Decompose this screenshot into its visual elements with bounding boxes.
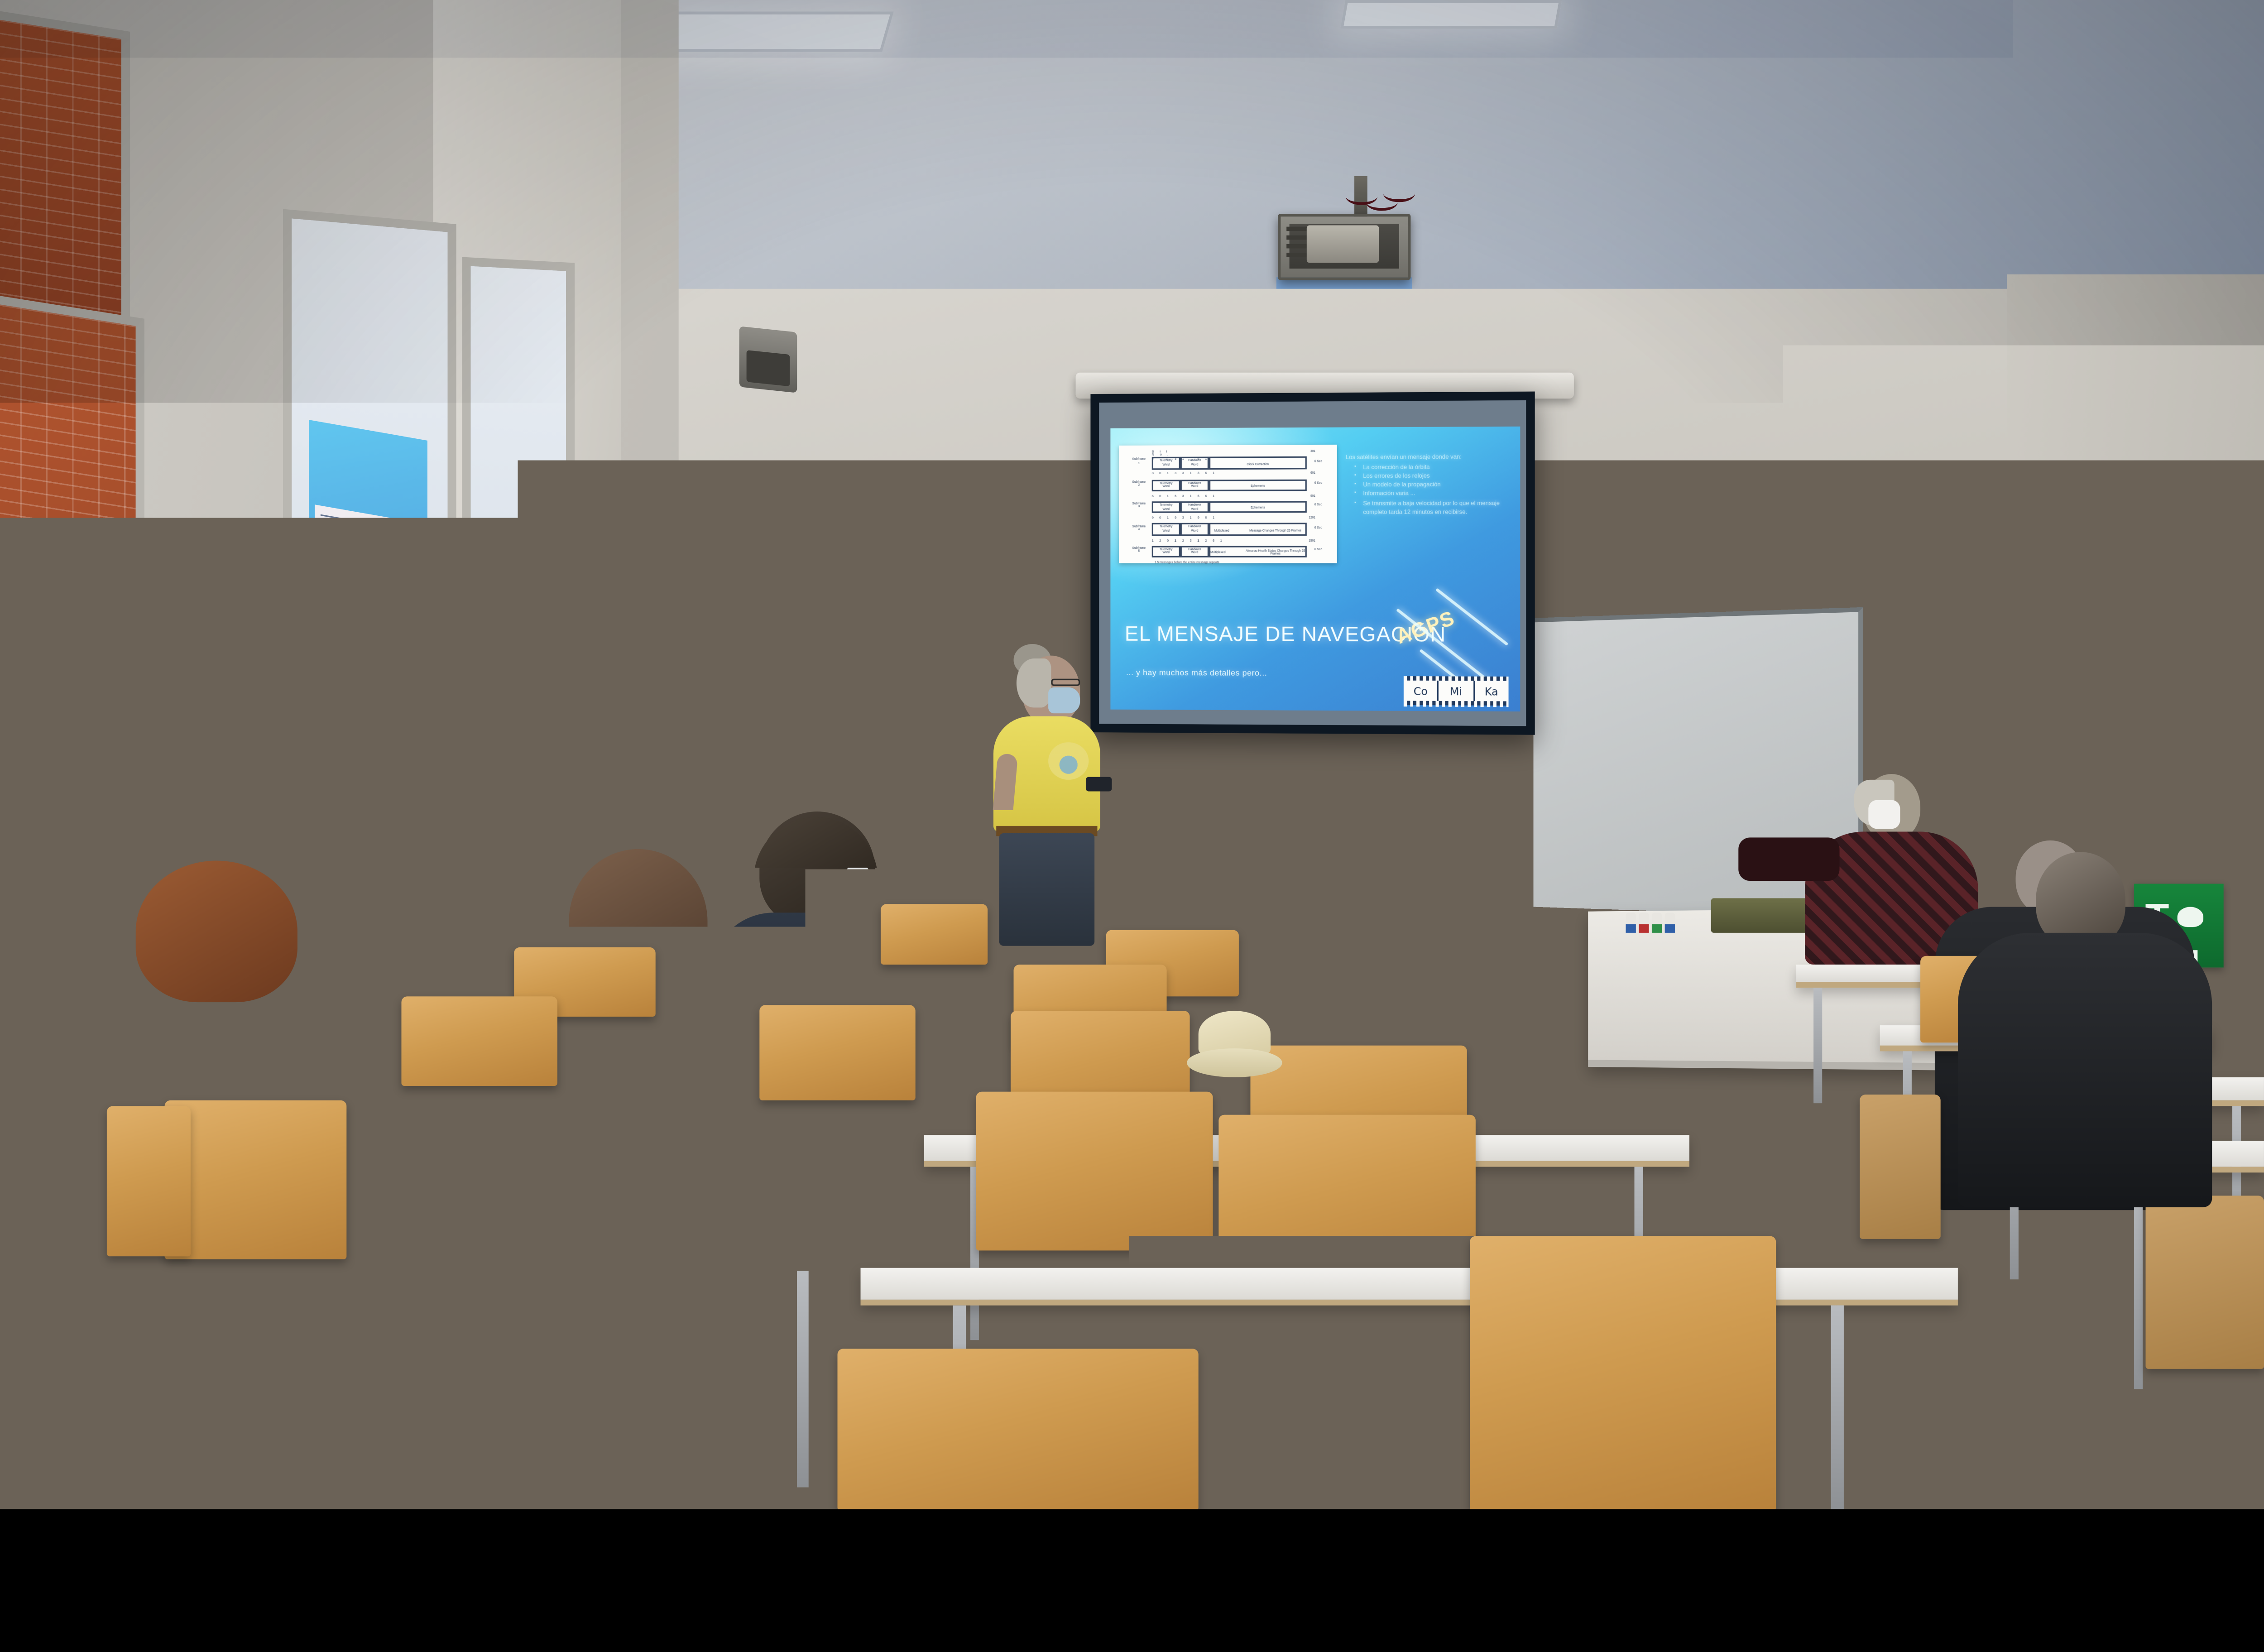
toy-figure [1665,912,1675,933]
window-centre-left: MENSAJE y muchos más [283,209,456,1004]
playmobil-figures [1626,904,1701,933]
chair[interactable] [2146,1196,2264,1369]
black-jacket-on-chair [552,1178,835,1337]
reflected-slide-title: MENSAJE [312,674,425,711]
smartphone[interactable] [1086,777,1112,792]
bullet-lead: Los satélites envían un mensaje donde va… [1346,453,1513,462]
bullet-list: La corrección de la órbita Los errores d… [1346,462,1513,517]
comika-film-logo: Co Mi Ka [1404,676,1509,706]
ceiling-light-panel [1340,0,1562,29]
grey-bag [162,1222,297,1453]
navigation-message-table: Bit No. = 13161 301 Subframe1 TelemetryW… [1119,445,1337,563]
window-lower-left [0,293,144,1127]
bullet-item: Los errores de los relojes [1354,471,1513,481]
face-mask [1048,687,1080,713]
projector-body [1307,225,1379,263]
classroom-photo: Bit No. = 13161 301 Subframe1 TelemetryW… [0,0,2264,1509]
ammo-box [1711,898,1815,933]
presentation-slide: Bit No. = 13161 301 Subframe1 TelemetryW… [1110,427,1520,711]
chair[interactable] [1860,1095,1941,1239]
ceiling-light-panel [651,12,894,52]
comika-frame-2: Mi [1439,681,1474,701]
projection-screen: Bit No. = 13161 301 Subframe1 TelemetryW… [1090,392,1535,735]
comika-frame-3: Ka [1474,681,1508,701]
slide-bullet-block: Los satélites envían un mensaje donde va… [1346,453,1513,517]
chair[interactable] [1470,1236,1776,1509]
ceiling-projector [1278,214,1410,280]
bottle [778,732,793,767]
paper-towel-dispenser [931,690,995,780]
exit-indicator-icon [2189,476,2255,508]
bullet-item: Información varia ... [1354,490,1513,499]
toy-figure [1639,912,1649,933]
projector-vent-slots [1286,227,1307,231]
chair[interactable] [976,1092,1213,1251]
glasses-icon [1051,679,1080,686]
table-caption: 1.5 messages before the entire message r… [1126,562,1330,565]
bullet-item: Se transmite a baja velocidad por lo que… [1354,499,1513,517]
bullet-item: Un modelo de la propagación [1354,480,1513,490]
window-right-of-pillar [462,257,575,941]
bullet-item: La corrección de la órbita [1354,462,1513,472]
wall-speaker [739,326,797,393]
tshirt-graphic [1048,742,1089,780]
reflected-slide-subtitle: y muchos más [315,718,422,744]
chair[interactable] [837,1349,1198,1509]
comika-frame-1: Co [1404,681,1439,701]
slide-reflection-in-glass: MENSAJE y muchos más [309,420,427,802]
slide-subtitle: ... y hay muchos más detalles pero... [1126,669,1267,678]
toy-figure [1626,912,1636,933]
bottle [755,724,770,767]
shoulder-bag [1427,976,1485,1052]
toy-figure [1652,912,1662,933]
